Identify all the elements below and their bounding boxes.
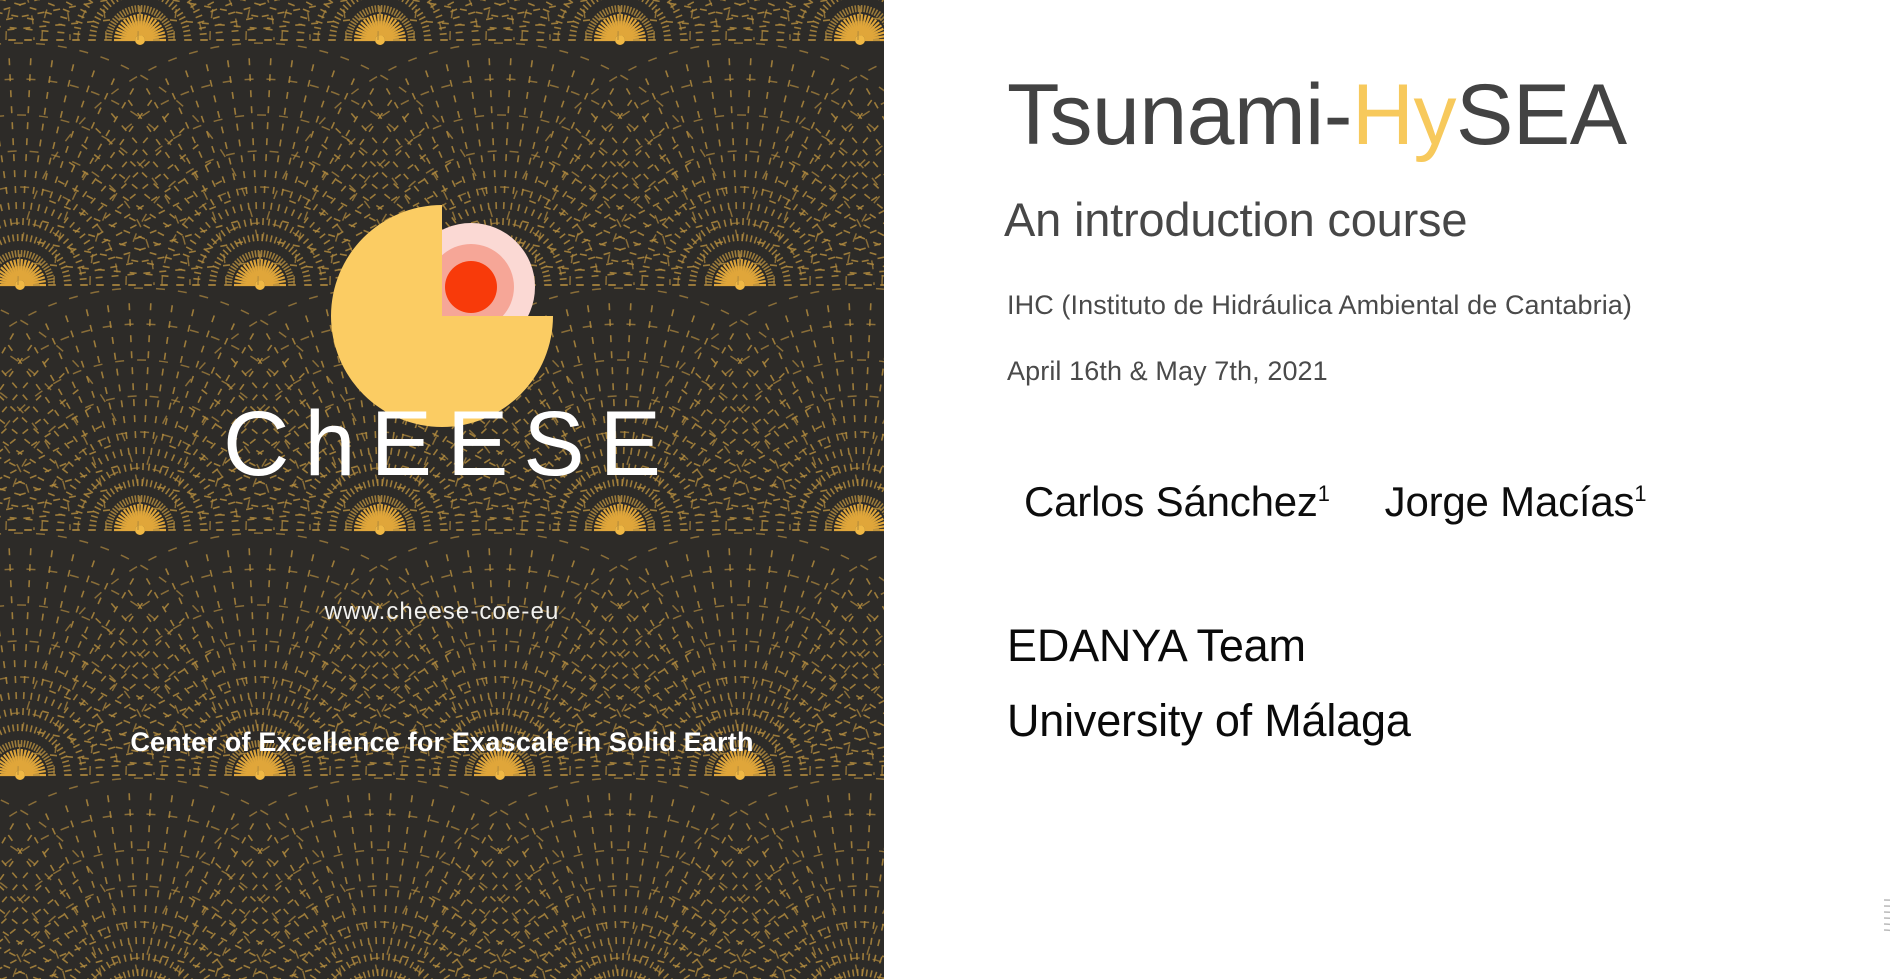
author-entry: Carlos Sánchez1 — [1024, 478, 1330, 526]
title-accent: Hy — [1352, 67, 1456, 163]
brand-url[interactable]: www.cheese-coe-eu — [0, 598, 884, 626]
page-title: Tsunami-HySEA — [1007, 66, 1627, 165]
title-part-1: Tsunami- — [1007, 67, 1352, 163]
brand-name: ChEESE — [0, 398, 884, 490]
author-affiliation-mark: 1 — [1318, 481, 1330, 506]
page-subtitle: An introduction course — [1004, 192, 1467, 247]
dates-line: April 16th & May 7th, 2021 — [1007, 356, 1328, 387]
burst-motif — [810, 965, 884, 979]
brand-tagline: Center of Excellence for Exascale in Sol… — [0, 727, 884, 758]
funding-footer: European Commission This project has rec… — [1884, 894, 1890, 974]
author-name: Jorge Macías — [1385, 478, 1635, 525]
burst-motif — [690, 720, 884, 979]
cheese-branding-panel: ChEESE www.cheese-coe-eu Center of Excel… — [0, 0, 884, 979]
venue-line: IHC (Instituto de Hidráulica Ambiental d… — [1007, 290, 1632, 321]
affiliation-university: University of Málaga — [1007, 695, 1411, 747]
content-panel: Tsunami-HySEA An introduction course IHC… — [884, 0, 1890, 979]
author-list: Carlos Sánchez1 Jorge Macías1 — [1024, 478, 1646, 526]
title-part-2: SEA — [1456, 67, 1627, 163]
affiliation-team: EDANYA Team — [1007, 620, 1306, 672]
author-affiliation-mark: 1 — [1634, 481, 1646, 506]
presentation-title-slide: ChEESE www.cheese-coe-eu Center of Excel… — [0, 0, 1890, 979]
author-name: Carlos Sánchez — [1024, 478, 1318, 525]
european-commission-logo-icon: European Commission — [1884, 894, 1890, 974]
author-entry: Jorge Macías1 — [1385, 478, 1647, 526]
